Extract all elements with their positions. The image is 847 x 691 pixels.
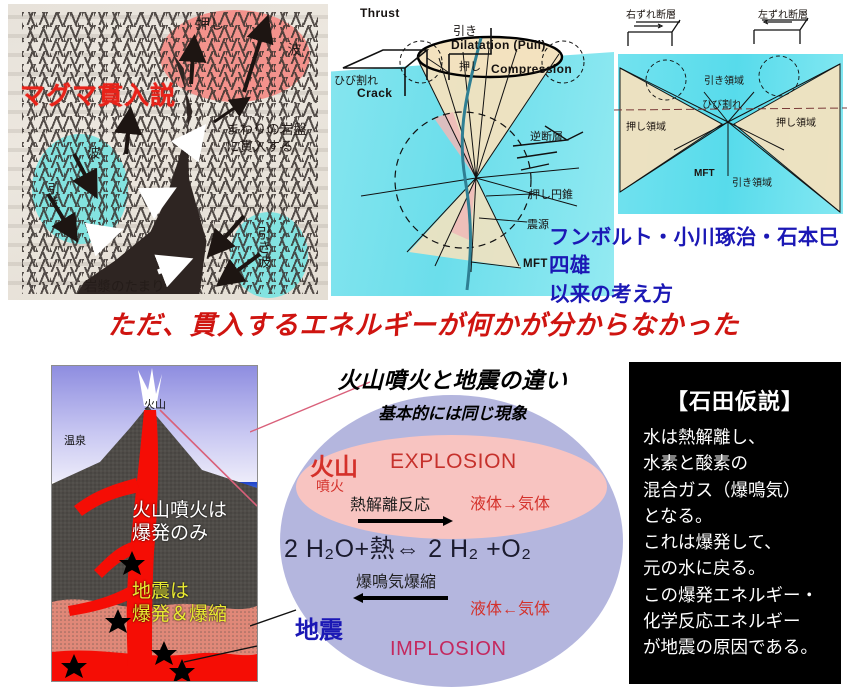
thermal-dissociation-label: 熱解離反応 bbox=[350, 491, 430, 515]
label-hypocenter: 震源 bbox=[527, 216, 549, 232]
label-dilatation: Dilatation (Pull) bbox=[451, 38, 546, 52]
label-left-lateral: 左ずれ断層 bbox=[758, 6, 808, 21]
label-thrust: Thrust bbox=[360, 6, 400, 20]
label-crack-en: Crack bbox=[357, 86, 392, 100]
label-push-jp: 押し bbox=[459, 58, 481, 74]
red-banner-text: ただ、貫入するエネルギーが何かが分からなかった bbox=[0, 303, 847, 342]
hypothesis-body: 水は熱解離し、 水素と酸素の 混合ガス（爆鳴気） となる。 これは爆発して、 元… bbox=[643, 424, 839, 660]
label-push-zone-right: 押し領域 bbox=[776, 114, 816, 129]
chemical-equation: 2 H₂O+熱⇔ 2 H₂ +O₂ bbox=[284, 529, 531, 565]
label-push-cone: 押し円錐 bbox=[529, 186, 573, 202]
label-crack-strike: ひび割れ bbox=[702, 96, 742, 111]
volcano-yellow-text: 地震は 爆発＆爆縮 bbox=[132, 580, 227, 626]
phase-change-bottom-label: 液体←気体 bbox=[470, 595, 550, 619]
label-compression: Compression bbox=[491, 62, 572, 76]
magma-arrows bbox=[8, 4, 328, 300]
label-volcano: 火山 bbox=[144, 396, 166, 412]
venn-diagram: 火山噴火と地震の違い 基本的には同じ現象 火山 噴火 EXPLOSION 熱解離… bbox=[280, 363, 625, 689]
label-pull-zone-bottom: 引き領域 bbox=[732, 174, 772, 189]
venn-subtitle: 基本的には同じ現象 bbox=[280, 400, 625, 424]
oxyhydrogen-implosion-label: 爆鳴気爆縮 bbox=[356, 568, 436, 592]
label-reverse-fault: 逆断層 bbox=[530, 128, 563, 144]
strike-drawing bbox=[614, 0, 847, 222]
label-pull-zone-top: 引き領域 bbox=[704, 72, 744, 87]
venn-title: 火山噴火と地震の違い bbox=[280, 363, 625, 395]
magma-intrusion-panel: マグマ貫入説 押し 波 引き 波 引き波 まわりの岩盤 に貫入する 岩漿のたまり bbox=[8, 4, 328, 300]
label-hot-spring: 温泉 bbox=[64, 432, 86, 448]
venn-earthquake-label: 地震 bbox=[295, 610, 343, 645]
volcano-white-text: 火山噴火は 爆発のみ bbox=[132, 499, 227, 545]
hypothesis-title: 【石田仮説】 bbox=[629, 384, 841, 416]
label-pull-jp: 引き bbox=[453, 22, 477, 39]
credit-text: フンボルト・小川琢治・石本巳四雄 以来の考え方 bbox=[549, 224, 845, 309]
label-right-lateral: 右ずれ断層 bbox=[626, 6, 676, 21]
label-mft-strike: MFT bbox=[694, 168, 715, 179]
explosion-label: EXPLOSION bbox=[390, 450, 517, 474]
label-mft-cone: MFT bbox=[523, 258, 548, 270]
strike-slip-panel: 右ずれ断層 左ずれ断層 引き領域 ひび割れ 押し領域 押し領域 MFT 引き領域 bbox=[614, 0, 847, 222]
label-push-zone-left: 押し領域 bbox=[626, 118, 666, 133]
implosion-label: IMPLOSION bbox=[390, 638, 507, 661]
volcano-cross-section: 火山 温泉 火山噴火は 爆発のみ 地震は 爆発＆爆縮 bbox=[51, 365, 258, 682]
phase-change-top-label: 液体→気体 bbox=[470, 490, 550, 514]
forward-reaction-arrow bbox=[358, 519, 444, 523]
venn-eruption-label: 噴火 bbox=[316, 476, 344, 496]
reverse-reaction-arrow bbox=[362, 596, 448, 600]
hypothesis-box: 【石田仮説】 水は熱解離し、 水素と酸素の 混合ガス（爆鳴気） となる。 これは… bbox=[629, 362, 841, 684]
